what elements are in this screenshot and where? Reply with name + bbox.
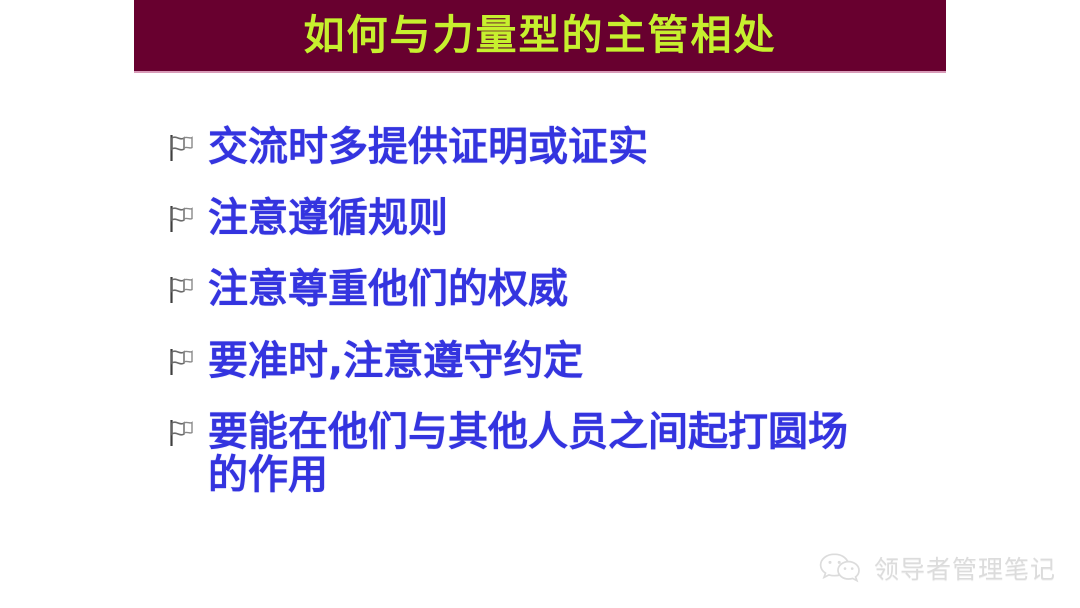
list-item: 要能在他们与其他人员之间起打圆场 的作用 xyxy=(168,411,928,497)
slide-canvas: 如何与力量型的主管相处 交流时多提供证明或证实 注意遵循规则 xyxy=(0,0,1080,608)
flag-bullet-icon xyxy=(168,197,208,233)
list-item-label: 注意尊重他们的权威 xyxy=(208,268,568,311)
list-item-label: 要能在他们与其他人员之间起打圆场 的作用 xyxy=(208,411,848,497)
list-item: 交流时多提供证明或证实 xyxy=(168,126,928,169)
watermark-label: 领导者管理笔记 xyxy=(874,550,1056,586)
list-item-label: 要准时,注意遵守约定 xyxy=(208,340,583,383)
title-banner: 如何与力量型的主管相处 xyxy=(134,0,946,71)
flag-bullet-icon xyxy=(168,340,208,376)
flag-bullet-icon xyxy=(168,268,208,304)
flag-bullet-icon xyxy=(168,126,208,162)
page-title: 如何与力量型的主管相处 xyxy=(304,15,777,56)
list-item: 注意尊重他们的权威 xyxy=(168,268,928,311)
watermark: 领导者管理笔记 xyxy=(818,550,1056,586)
bullet-list: 交流时多提供证明或证实 注意遵循规则 注意尊重他们的权威 xyxy=(168,126,928,525)
wechat-icon xyxy=(818,551,864,585)
list-item: 注意遵循规则 xyxy=(168,197,928,240)
list-item-label: 注意遵循规则 xyxy=(208,197,448,240)
title-banner-underline xyxy=(134,71,946,73)
list-item-label: 交流时多提供证明或证实 xyxy=(208,126,648,169)
flag-bullet-icon xyxy=(168,411,208,447)
list-item: 要准时,注意遵守约定 xyxy=(168,340,928,383)
